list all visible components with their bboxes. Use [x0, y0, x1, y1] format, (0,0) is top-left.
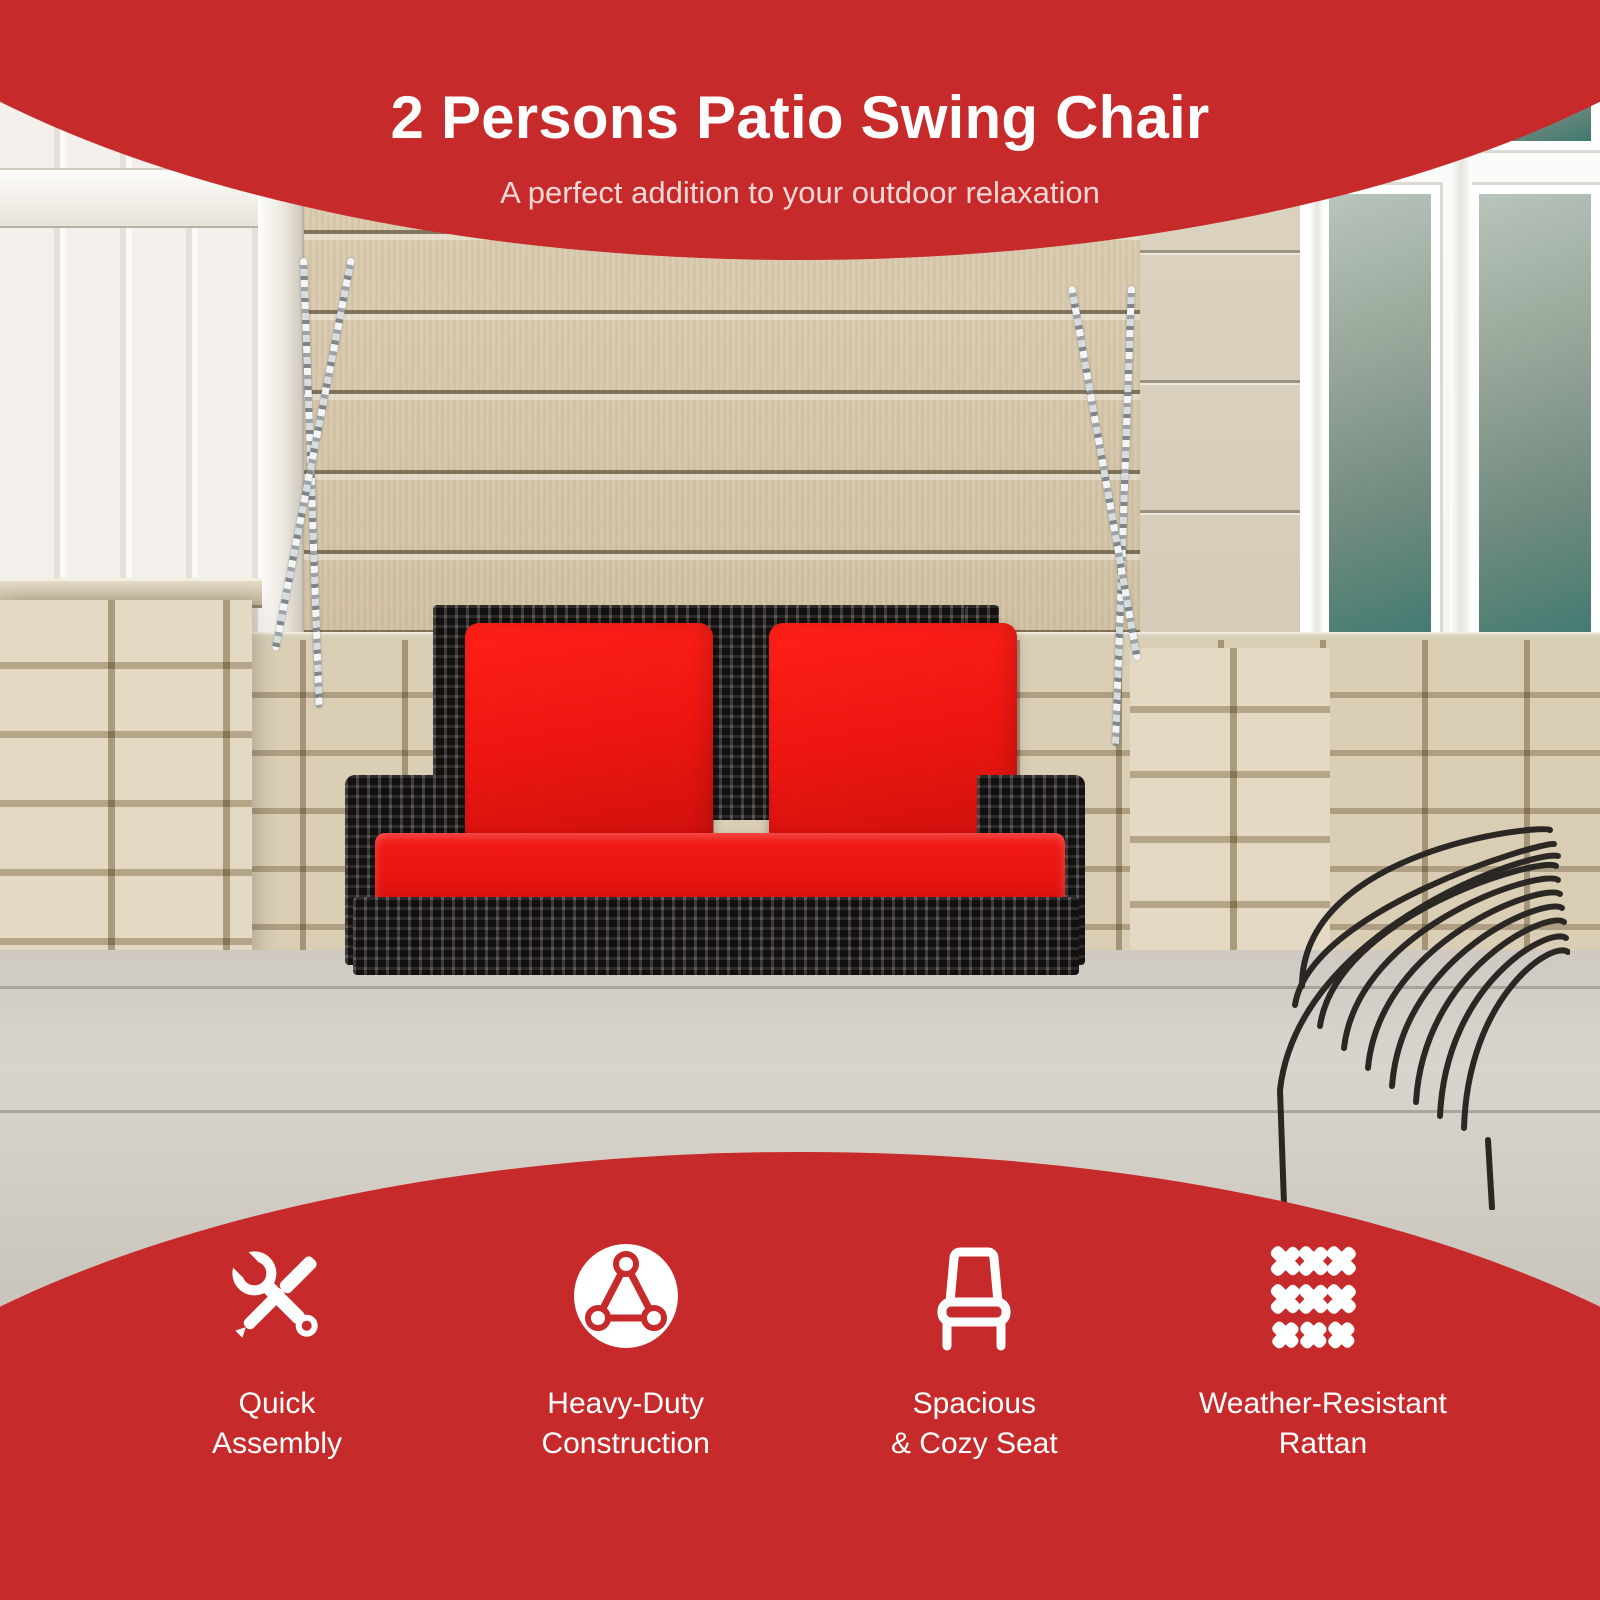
page-title: 2 Persons Patio Swing Chair: [0, 86, 1600, 149]
feature-item-weather-resistant: Weather-Resistant Rattan: [1178, 1226, 1468, 1464]
page-subtitle: A perfect addition to your outdoor relax…: [0, 175, 1600, 211]
feature-list: Quick Assembly Heavy-Duty Construction: [0, 1226, 1600, 1464]
feature-label: Spacious & Cozy Seat: [829, 1384, 1119, 1464]
feature-item-heavy-duty: Heavy-Duty Construction: [481, 1226, 771, 1464]
back-cushion-left: [465, 623, 713, 841]
patio-swing-chair: [345, 605, 1085, 965]
feature-item-spacious-seat: Spacious & Cozy Seat: [829, 1226, 1119, 1464]
feature-item-quick-assembly: Quick Assembly: [132, 1226, 422, 1464]
feature-label: Quick Assembly: [132, 1384, 422, 1464]
swing-base: [353, 897, 1079, 975]
header-text-block: 2 Persons Patio Swing Chair A perfect ad…: [0, 0, 1600, 211]
wrench-screwdriver-icon: [132, 1226, 422, 1366]
feature-label: Weather-Resistant Rattan: [1178, 1384, 1468, 1464]
woven-lattice-icon: [1178, 1226, 1468, 1366]
chair-icon: [829, 1226, 1119, 1366]
feature-label: Heavy-Duty Construction: [481, 1384, 771, 1464]
triangle-node-circle-icon: [481, 1226, 771, 1366]
product-infographic: 2 Persons Patio Swing Chair A perfect ad…: [0, 0, 1600, 1600]
wire-patio-chair: [1240, 790, 1570, 1210]
